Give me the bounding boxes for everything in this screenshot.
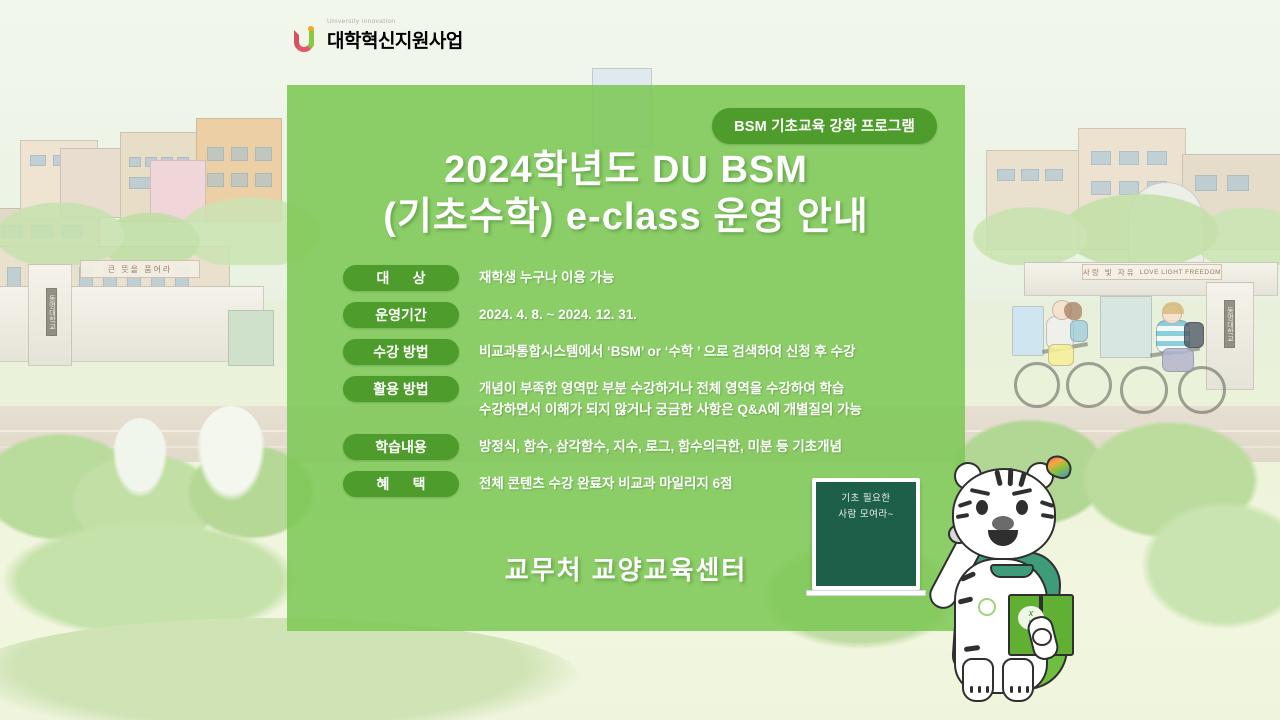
gate-sign-right-korean: 사랑 빛 자유 [1083, 267, 1136, 278]
info-label-learning-content: 학습내용 [343, 434, 459, 460]
gate-sign-right-english: LOVE LIGHT FREEDOM [1140, 269, 1221, 276]
mascot-nose [992, 516, 1014, 531]
poster-canvas: 큰 뜻을 품어라 동명대학교 사랑 빛 자유 LOVE LIGHT FREEDO… [0, 0, 1280, 720]
cyclist-man [1118, 302, 1238, 426]
info-value-benefit: 전체 콘텐츠 수강 완료자 비교과 마일리지 6점 [479, 471, 733, 495]
gate-pillar-sign-left: 동명대학교 [46, 288, 57, 336]
poster-title-line-2: (기초수학) e-class 운영 안내 [287, 194, 965, 241]
logo-uj-mark-icon [294, 21, 322, 53]
info-label-enrollment-method: 수강 방법 [343, 339, 459, 365]
info-value-learning-content: 방정식, 함수, 삼각함수, 지수, 로그, 함수의극한, 미분 등 기초개념 [479, 434, 842, 458]
mascot-medal-icon [978, 598, 996, 616]
tree-white-blossom [196, 406, 266, 502]
mascot-leg-left [962, 658, 994, 702]
cyclist-woman [1012, 300, 1122, 420]
info-row: 수강 방법 비교과통합시스템에서 ‘BSM’ or ‘수학 ’ 으로 검색하여 … [343, 339, 949, 365]
info-value-enrollment-method: 비교과통합시스템에서 ‘BSM’ or ‘수학 ’ 으로 검색하여 신청 후 수… [479, 339, 855, 363]
logo-english-tagline: University innovation [327, 18, 463, 25]
blackboard-text: 기초 필요한 사람 모여라~ [838, 491, 893, 523]
info-value-period: 2024. 4. 8. ~ 2024. 12. 31. [479, 302, 637, 326]
logo-j-shape-icon [307, 26, 316, 52]
mascot-eye-right [1016, 500, 1028, 515]
poster-title: 2024학년도 DU BSM (기초수학) e-class 운영 안내 [287, 147, 965, 241]
info-value-usage-method: 개념이 부족한 영역만 부분 수강하거나 전체 영역을 수강하여 학습 수강하면… [479, 376, 862, 421]
info-rows-list: 대 상 재학생 누구나 이용 가능 운영기간 2024. 4. 8. ~ 202… [343, 265, 949, 508]
info-label-usage-method: 활용 방법 [343, 376, 459, 402]
info-label-benefit: 혜 택 [343, 471, 459, 497]
mascot-head-stripe [1008, 468, 1014, 486]
mascot-leg-right [1002, 658, 1034, 702]
university-innovation-logo: University innovation 대학혁신지원사업 [294, 18, 463, 53]
gate-sign-left: 큰 뜻을 품어라 [80, 260, 200, 278]
tiger-mascot: x y [900, 446, 1110, 714]
logo-korean-name: 대학혁신지원사업 [327, 26, 463, 53]
program-badge: BSM 기초교육 강화 프로그램 [712, 108, 937, 144]
info-value-target: 재학생 누구나 이용 가능 [479, 265, 614, 289]
info-row: 대 상 재학생 누구나 이용 가능 [343, 265, 949, 291]
info-row: 학습내용 방정식, 함수, 삼각함수, 지수, 로그, 함수의극한, 미분 등 … [343, 434, 949, 460]
gate-sign-right: 사랑 빛 자유 LOVE LIGHT FREEDOM [1082, 264, 1222, 280]
info-label-target: 대 상 [343, 265, 459, 291]
mascot-eye-left [976, 500, 988, 515]
info-label-period: 운영기간 [343, 302, 459, 328]
gate-booth-left [228, 310, 274, 366]
poster-title-line-1: 2024학년도 DU BSM [287, 147, 965, 194]
tree-white-blossom [112, 418, 168, 498]
mascot-holding-paw [1032, 628, 1052, 646]
info-row: 운영기간 2024. 4. 8. ~ 2024. 12. 31. [343, 302, 949, 328]
mascot-collar [990, 564, 1034, 578]
info-row: 활용 방법 개념이 부족한 영역만 부분 수강하거나 전체 영역을 수강하여 학… [343, 376, 949, 421]
